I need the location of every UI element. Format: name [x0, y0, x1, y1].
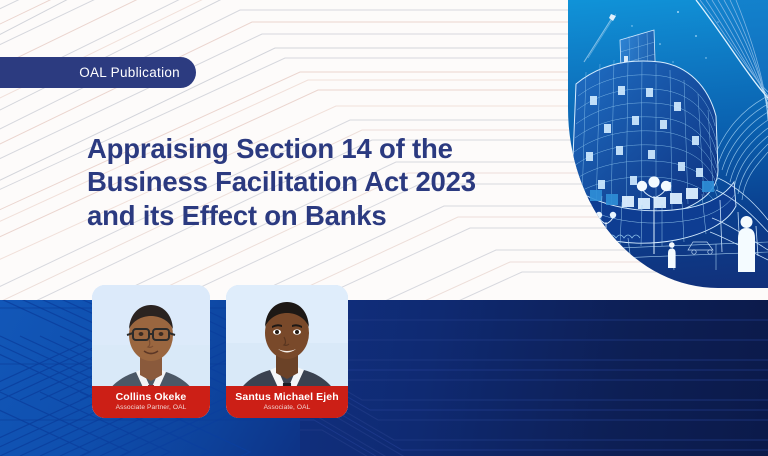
author-name: Santus Michael Ejeh [228, 391, 346, 403]
author-name-plate-1: Collins Okeke Associate Partner, OAL [92, 386, 210, 418]
badge-label: OAL Publication [79, 65, 180, 80]
author-name: Collins Okeke [94, 391, 208, 403]
author-card-2: Santus Michael Ejeh Associate, OAL [226, 285, 348, 418]
publication-banner: OAL Publication Appraising Section 14 of… [0, 0, 768, 456]
author-role: Associate Partner, OAL [94, 404, 208, 412]
city-skyline-illustration [568, 0, 768, 288]
author-card-1: Collins Okeke Associate Partner, OAL [92, 285, 210, 418]
title-line-1: Appraising Section 14 of the [87, 132, 557, 165]
author-name-plate-2: Santus Michael Ejeh Associate, OAL [226, 386, 348, 418]
page-title: Appraising Section 14 of the Business Fa… [87, 132, 557, 232]
authors-row: Collins Okeke Associate Partner, OAL [92, 285, 348, 418]
title-line-3: and its Effect on Banks [87, 199, 557, 232]
oal-publication-badge: OAL Publication [0, 57, 196, 88]
title-line-2: Business Facilitation Act 2023 [87, 165, 557, 198]
author-role: Associate, OAL [228, 404, 346, 412]
